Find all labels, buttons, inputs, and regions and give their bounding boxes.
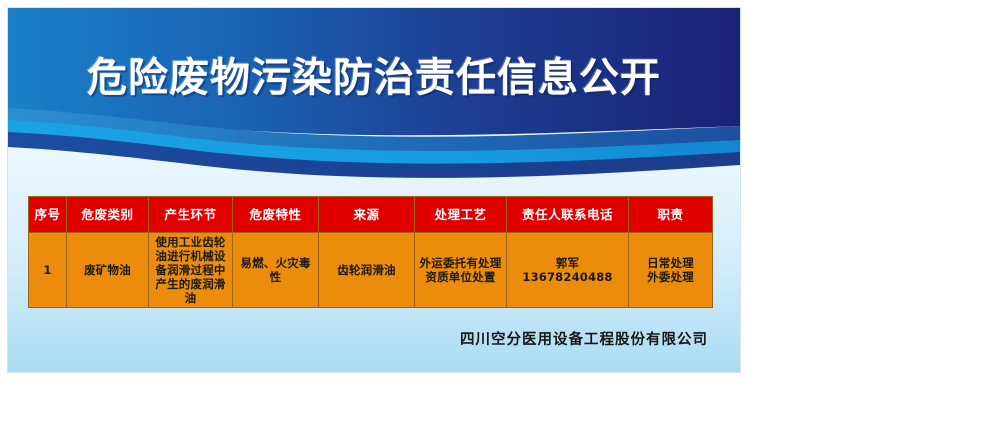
cell-index: 1 [29,233,67,308]
col-header-characteristics: 危废特性 [233,197,319,233]
table-header-row: 序号 危废类别 产生环节 危废特性 来源 处理工艺 责任人联系电话 职责 [29,197,713,233]
col-header-generation: 产生环节 [149,197,233,233]
hazardous-waste-table: 序号 危废类别 产生环节 危废特性 来源 处理工艺 责任人联系电话 职责 1 废… [28,196,713,308]
col-header-contact: 责任人联系电话 [507,197,629,233]
company-name: 四川空分医用设备工程股份有限公司 [8,328,720,349]
contact-name: 郭军 [509,256,626,270]
hazardous-waste-table-wrap: 序号 危废类别 产生环节 危废特性 来源 处理工艺 责任人联系电话 职责 1 废… [28,196,712,308]
cell-generation: 使用工业齿轮油进行机械设备润滑过程中产生的废润滑油 [149,233,233,308]
contact-phone: 13678240488 [509,270,626,284]
col-header-source: 来源 [319,197,415,233]
cell-duty: 日常处理外委处理 [629,233,713,308]
table-row: 1 废矿物油 使用工业齿轮油进行机械设备润滑过程中产生的废润滑油 易燃、火灾毒性… [29,233,713,308]
page-title: 危险废物污染防治责任信息公开 [8,54,740,102]
cell-category: 废矿物油 [67,233,149,308]
col-header-duty: 职责 [629,197,713,233]
cell-process: 外运委托有处理资质单位处置 [415,233,507,308]
cell-characteristics: 易燃、火灾毒性 [233,233,319,308]
poster-board: 危险废物污染防治责任信息公开 序号 危废类别 产生环节 危废特性 来源 处理工艺… [8,8,740,372]
col-header-index: 序号 [29,197,67,233]
cell-contact: 郭军 13678240488 [507,233,629,308]
cell-source: 齿轮润滑油 [319,233,415,308]
col-header-category: 危废类别 [67,197,149,233]
banner-header: 危险废物污染防治责任信息公开 [8,8,740,180]
col-header-process: 处理工艺 [415,197,507,233]
